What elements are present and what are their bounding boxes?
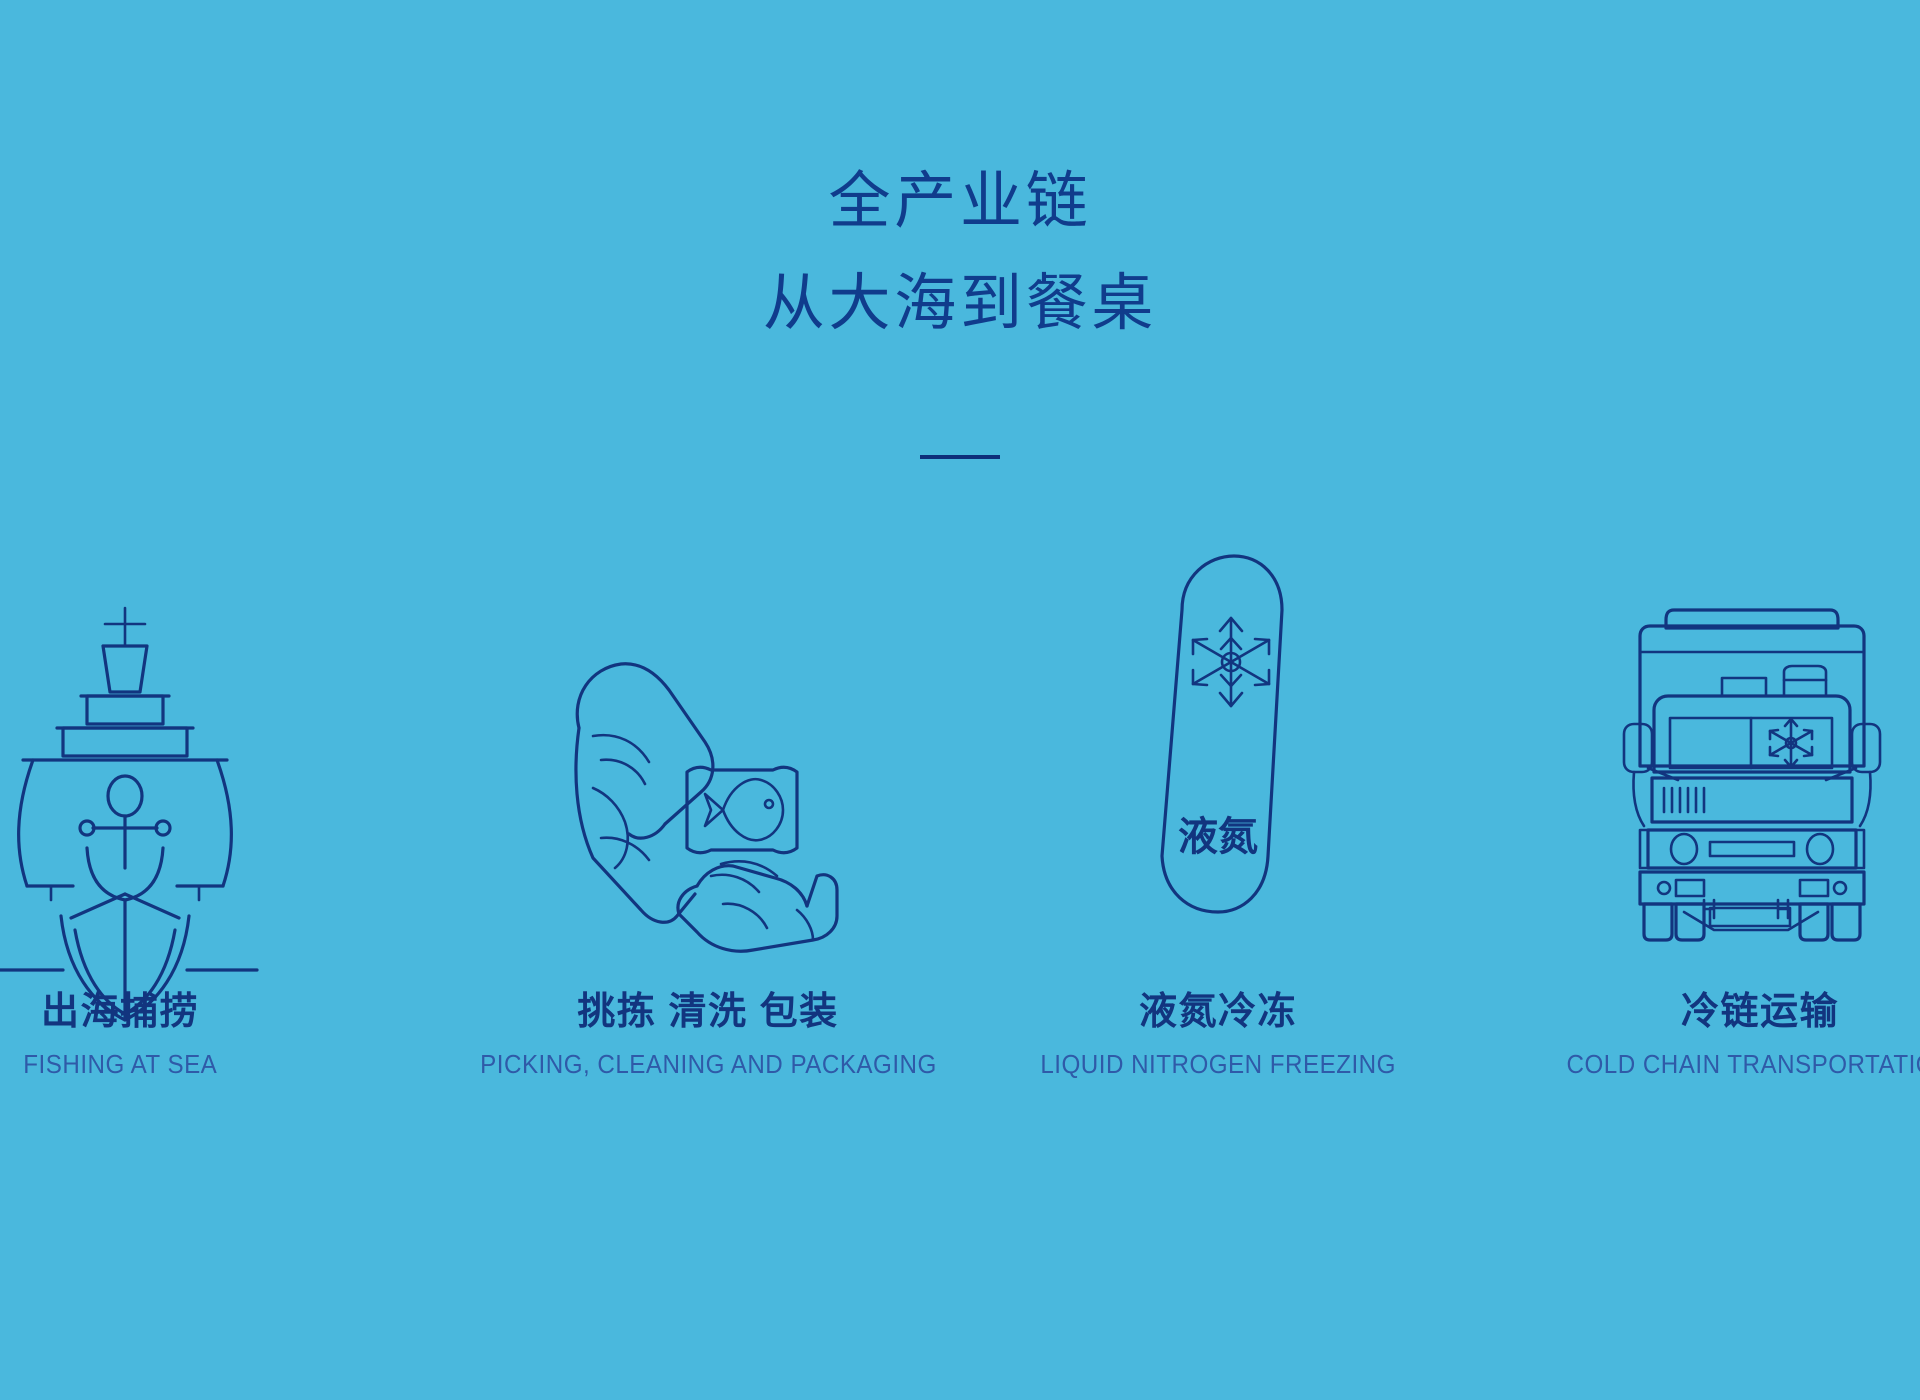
- step-label-en: PICKING, CLEANING AND PACKAGING: [480, 1050, 937, 1079]
- step-label-cn: 液氮冷冻: [1027, 992, 1409, 1034]
- step-label-cn: 出海捕捞: [16, 992, 225, 1034]
- step-labels: 挑拣 清洗 包装 PICKING, CLEANING AND PACKAGING: [463, 992, 954, 1078]
- fishing-boat-icon: [0, 540, 275, 940]
- infographic-stage: 全产业链 从大海到餐桌: [0, 0, 1920, 1400]
- step-label-en: LIQUID NITROGEN FREEZING: [1040, 1050, 1396, 1079]
- title-divider: [920, 455, 1000, 459]
- step-label-en: FISHING AT SEA: [23, 1050, 217, 1079]
- step-labels: 出海捕捞 FISHING AT SEA: [16, 992, 225, 1078]
- step-label-en: COLD CHAIN TRANSPORTATION: [1567, 1050, 1920, 1079]
- tank-caption: 液氮: [1178, 815, 1258, 859]
- hands-with-packaged-fish-icon: [545, 540, 865, 940]
- process-step-fishing-at-sea: 出海捕捞 FISHING AT SEA: [0, 540, 480, 1078]
- liquid-nitrogen-tank-icon: 液氮: [1118, 540, 1318, 940]
- title-divider-wrap: [0, 455, 1920, 459]
- process-step-cold-chain-transportation: 冷链运输 COLD CHAIN TRANSPORTATION: [1440, 540, 1920, 1078]
- process-steps-row: 出海捕捞 FISHING AT SEA: [0, 540, 1920, 1078]
- step-labels: 液氮冷冻 LIQUID NITROGEN FREEZING: [1027, 992, 1409, 1078]
- step-label-cn: 挑拣 清洗 包装: [463, 992, 954, 1034]
- page-title-line-1: 全产业链: [0, 170, 1920, 232]
- refrigerated-truck-icon: [1618, 540, 1918, 940]
- step-labels: 冷链运输 COLD CHAIN TRANSPORTATION: [1552, 992, 1920, 1078]
- page-title-block: 全产业链 从大海到餐桌: [0, 170, 1920, 334]
- process-step-picking-cleaning-packaging: 挑拣 清洗 包装 PICKING, CLEANING AND PACKAGING: [480, 540, 960, 1078]
- process-step-liquid-nitrogen-freezing: 液氮 液氮冷冻 LIQUID NITROGEN FREEZING: [960, 540, 1440, 1078]
- step-label-cn: 冷链运输: [1552, 992, 1920, 1034]
- page-title-line-2: 从大海到餐桌: [0, 272, 1920, 334]
